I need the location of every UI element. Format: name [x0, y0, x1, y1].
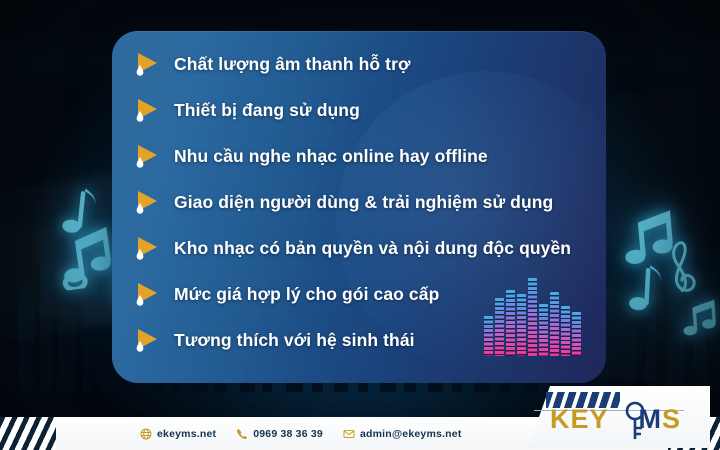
logo-text-key: KEY	[550, 404, 609, 434]
contact-phone[interactable]: 0969 38 36 39	[236, 428, 323, 440]
brand-logo[interactable]: KEYMS	[510, 386, 710, 448]
play-arrow-icon	[134, 142, 160, 170]
play-arrow-icon	[134, 234, 160, 262]
list-item-label: Kho nhạc có bản quyền và nội dung độc qu…	[174, 238, 571, 259]
logo-text-s: S	[662, 404, 681, 434]
contact-email[interactable]: admin@ekeyms.net	[343, 428, 462, 440]
equalizer-bar	[561, 306, 570, 356]
play-arrow-icon	[134, 326, 160, 354]
play-arrow-icon	[134, 188, 160, 216]
list-item-label: Tương thích với hệ sinh thái	[174, 330, 415, 351]
footer-stripes-left	[0, 417, 56, 450]
list-item-label: Giao diện người dùng & trải nghiệm sử dụ…	[174, 192, 553, 213]
footer-contacts: ekeyms.net 0969 38 36 39 admin@ekey	[140, 417, 462, 450]
list-item-label: Mức giá hợp lý cho gói cao cấp	[174, 284, 439, 305]
equalizer-bar	[539, 304, 548, 356]
phone-icon	[236, 428, 248, 440]
contact-website[interactable]: ekeyms.net	[140, 428, 216, 440]
envelope-icon	[343, 428, 355, 440]
play-arrow-icon	[134, 96, 160, 124]
equalizer-bar	[517, 294, 526, 356]
contact-email-text: admin@ekeyms.net	[360, 428, 462, 440]
list-item-label: Nhu cầu nghe nhạc online hay offline	[174, 146, 488, 167]
logo-wordmark: KEYMS	[550, 406, 681, 433]
list-item[interactable]: Thiết bị đang sử dụng	[126, 87, 606, 133]
list-item[interactable]: Giao diện người dùng & trải nghiệm sử dụ…	[126, 179, 606, 225]
contact-phone-text: 0969 38 36 39	[253, 428, 323, 440]
globe-icon	[140, 428, 152, 440]
list-item[interactable]: Nhu cầu nghe nhạc online hay offline	[126, 133, 606, 179]
key-icon	[618, 400, 652, 442]
list-item-label: Chất lượng âm thanh hỗ trợ	[174, 54, 411, 75]
contact-website-text: ekeyms.net	[157, 428, 216, 440]
audio-equalizer-graphic	[484, 278, 584, 356]
equalizer-bar	[550, 292, 559, 356]
equalizer-bar	[484, 316, 493, 356]
equalizer-bar	[506, 290, 515, 356]
list-item[interactable]: Chất lượng âm thanh hỗ trợ	[126, 41, 606, 87]
slide-canvas: Chất lượng âm thanh hỗ trợ Thiết bị đang…	[0, 0, 720, 450]
list-item[interactable]: Kho nhạc có bản quyền và nội dung độc qu…	[126, 225, 606, 271]
equalizer-bar	[528, 278, 537, 356]
equalizer-bar	[495, 298, 504, 356]
equalizer-bar	[572, 312, 581, 356]
play-arrow-icon	[134, 280, 160, 308]
play-arrow-icon	[134, 50, 160, 78]
list-item-label: Thiết bị đang sử dụng	[174, 100, 360, 121]
